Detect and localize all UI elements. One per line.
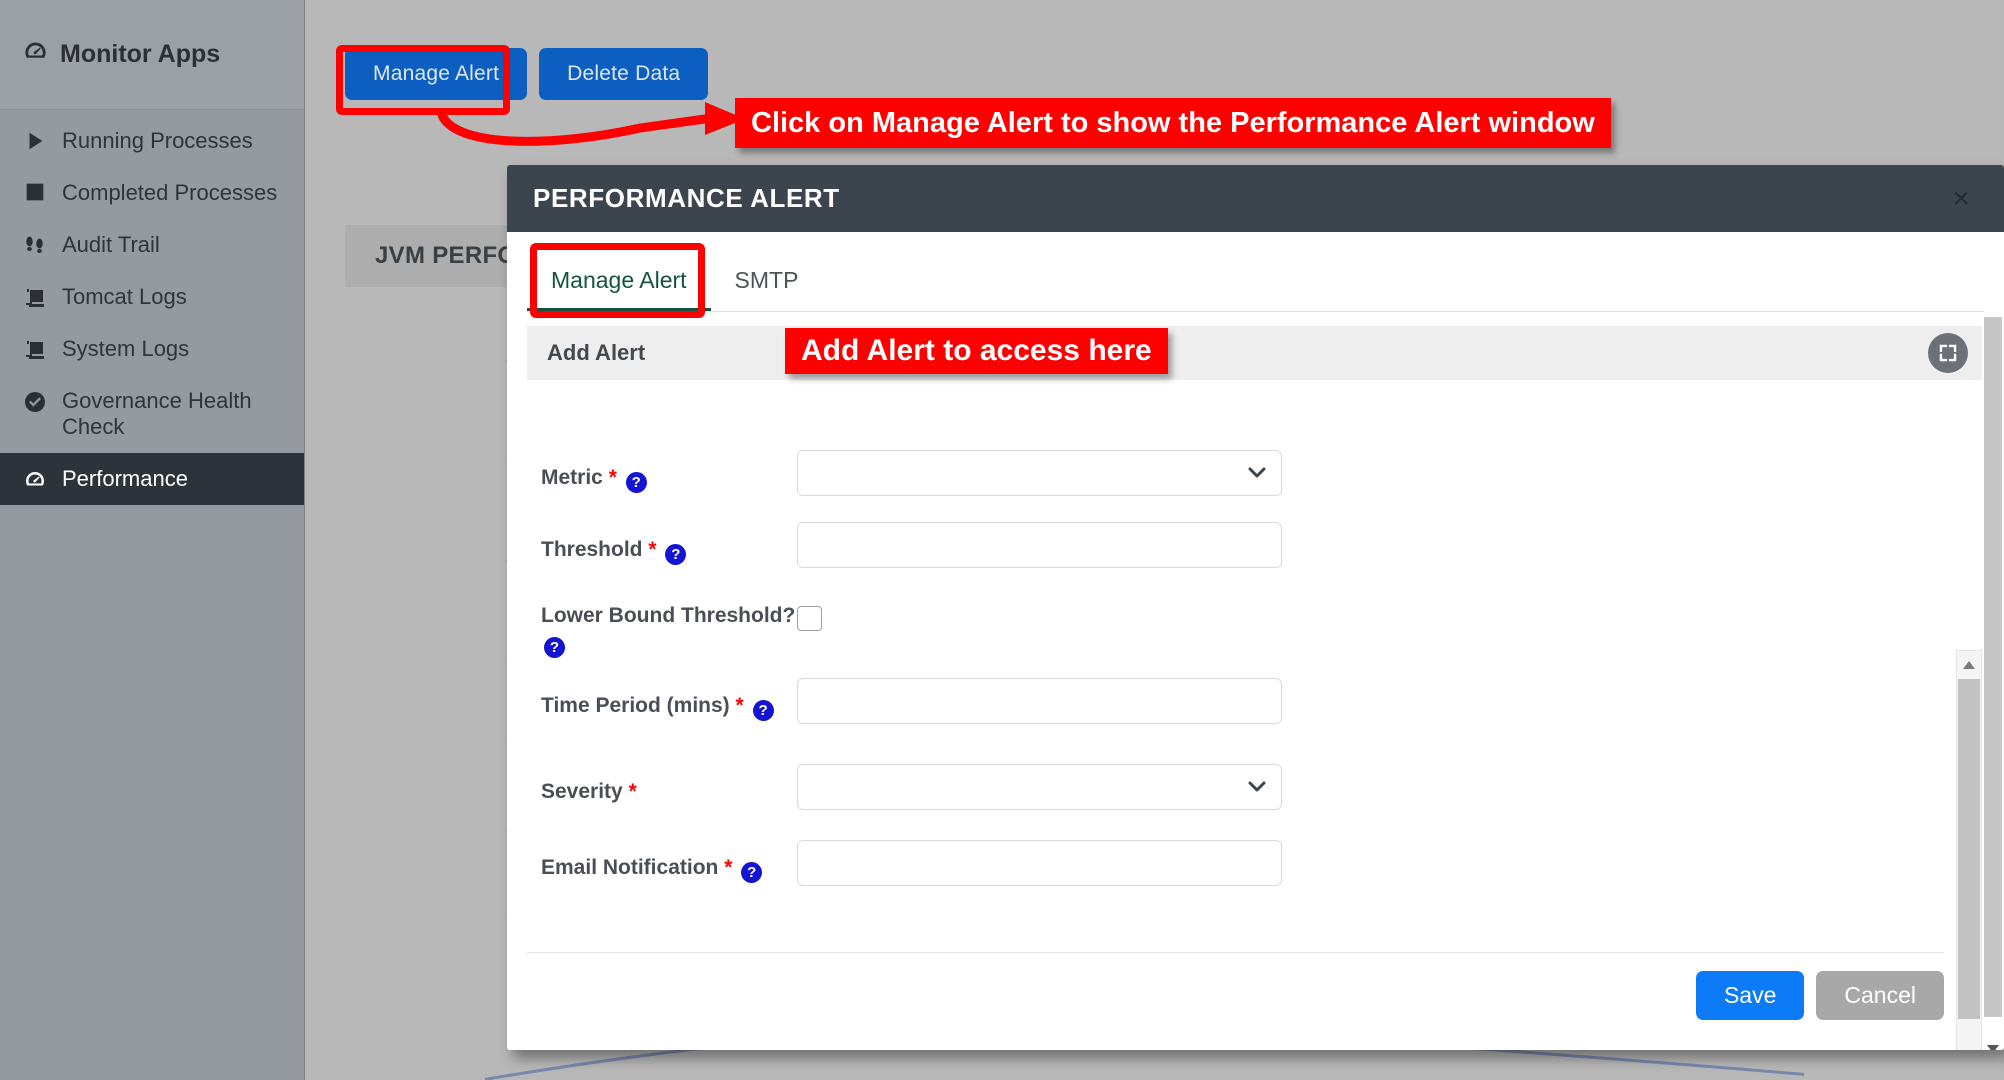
sidebar-nav-list: Running Processes Completed Processes Au… <box>0 110 304 505</box>
manage-alert-button[interactable]: Manage Alert <box>345 48 527 100</box>
sidebar-item-label: Tomcat Logs <box>62 284 187 310</box>
sidebar-item-governance-health-check[interactable]: Governance Health Check <box>0 375 304 453</box>
scroll-log-icon <box>22 286 48 310</box>
required-asterisk: * <box>724 856 732 879</box>
tab-smtp[interactable]: SMTP <box>711 251 823 311</box>
email-notification-label: Email Notification * ? <box>527 840 797 883</box>
field-label-text: Lower Bound Threshold? <box>541 604 795 627</box>
save-button[interactable]: Save <box>1696 971 1804 1020</box>
lower-bound-threshold-control-wrap <box>797 594 1282 636</box>
threshold-label: Threshold * ? <box>527 522 797 565</box>
modal-scrollbar-thumb[interactable] <box>1984 317 2002 1017</box>
lower-bound-threshold-checkbox[interactable] <box>797 606 822 631</box>
form-row-time-period: Time Period (mins) * ? <box>527 678 1984 724</box>
form-row-lower-bound-threshold: Lower Bound Threshold? ? <box>527 594 1984 658</box>
modal-scroll-down-arrow-icon[interactable] <box>1982 1044 2004 1050</box>
cancel-button[interactable]: Cancel <box>1816 971 1944 1020</box>
required-asterisk: * <box>609 466 617 489</box>
annotation-text: Click on Manage Alert to show the Perfor… <box>751 107 1595 140</box>
metric-control-wrap <box>797 450 1282 496</box>
sidebar-item-completed-processes[interactable]: Completed Processes <box>0 167 304 219</box>
field-label-text: Email Notification <box>541 856 718 879</box>
modal-title: PERFORMANCE ALERT <box>533 183 840 214</box>
metric-select[interactable] <box>797 450 1282 496</box>
sidebar-item-performance[interactable]: Performance <box>0 453 304 505</box>
time-period-label: Time Period (mins) * ? <box>527 678 817 721</box>
field-label-text: Severity <box>541 780 623 803</box>
scroll-log-icon <box>22 338 48 362</box>
stop-square-icon <box>22 182 48 202</box>
sidebar-brand[interactable]: Monitor Apps <box>0 0 304 110</box>
field-label-text: Metric <box>541 466 603 489</box>
annotation-text: Add Alert to access here <box>801 334 1152 368</box>
modal-tabs: Manage Alert SMTP <box>527 250 1984 312</box>
modal-scrollbar[interactable] <box>1982 317 2004 1050</box>
metric-label: Metric * ? <box>527 450 797 493</box>
required-asterisk: * <box>629 780 637 803</box>
sidebar-item-label: System Logs <box>62 336 189 362</box>
form-scrollbar-thumb[interactable] <box>1958 679 1980 1019</box>
dashboard-gauge-icon <box>22 38 49 72</box>
sidebar-item-label: Performance <box>62 466 188 492</box>
performance-alert-modal: PERFORMANCE ALERT × Manage Alert SMTP Ad… <box>507 165 2004 1050</box>
form-row-metric: Metric * ? <box>527 450 1984 496</box>
sidebar-item-label: Running Processes <box>62 128 253 154</box>
email-notification-input[interactable] <box>797 840 1282 886</box>
tab-manage-alert[interactable]: Manage Alert <box>527 251 711 311</box>
sidebar-item-running-processes[interactable]: Running Processes <box>0 115 304 167</box>
help-icon[interactable]: ? <box>626 472 647 493</box>
alert-form: Metric * ? Threshold * <box>527 450 1984 968</box>
annotation-banner-click-manage-alert: Click on Manage Alert to show the Perfor… <box>735 98 1611 148</box>
delete-data-button[interactable]: Delete Data <box>539 48 708 100</box>
add-alert-section-bar: Add Alert <box>527 326 1984 380</box>
time-period-control-wrap <box>797 678 1282 724</box>
sidebar-item-label: Audit Trail <box>62 232 160 258</box>
lower-bound-threshold-label: Lower Bound Threshold? ? <box>527 594 797 658</box>
severity-label: Severity * <box>527 764 797 805</box>
severity-control-wrap <box>797 764 1282 810</box>
help-icon[interactable]: ? <box>665 544 686 565</box>
action-toolbar: Manage Alert Delete Data <box>345 48 708 100</box>
sidebar-item-tomcat-logs[interactable]: Tomcat Logs <box>0 271 304 323</box>
modal-footer: Save Cancel <box>527 952 1944 1020</box>
help-icon[interactable]: ? <box>544 637 565 658</box>
required-asterisk: * <box>736 694 744 717</box>
sidebar-item-label: Completed Processes <box>62 180 277 206</box>
sidebar-item-audit-trail[interactable]: Audit Trail <box>0 219 304 271</box>
field-label-text: Threshold <box>541 538 643 561</box>
form-row-severity: Severity * <box>527 764 1984 810</box>
annotation-banner-add-alert: Add Alert to access here <box>785 328 1168 374</box>
sidebar-item-system-logs[interactable]: System Logs <box>0 323 304 375</box>
sidebar: Monitor Apps Running Processes Completed… <box>0 0 305 1080</box>
threshold-control-wrap <box>797 522 1282 568</box>
scroll-up-arrow-icon[interactable] <box>1957 651 1981 679</box>
close-icon[interactable]: × <box>1942 180 1980 218</box>
footprints-icon <box>22 234 48 258</box>
sidebar-item-label: Governance Health Check <box>62 388 290 440</box>
check-circle-icon <box>22 390 48 414</box>
form-scrollbar[interactable] <box>1956 650 1982 1050</box>
required-asterisk: * <box>648 538 656 561</box>
play-triangle-icon <box>22 130 48 152</box>
sidebar-brand-label: Monitor Apps <box>60 40 220 69</box>
threshold-input[interactable] <box>797 522 1282 568</box>
severity-select[interactable] <box>797 764 1282 810</box>
modal-header: PERFORMANCE ALERT × <box>507 165 2004 232</box>
time-period-input[interactable] <box>797 678 1282 724</box>
field-label-text: Time Period (mins) <box>541 694 730 717</box>
fullscreen-expand-icon[interactable] <box>1928 333 1968 373</box>
help-icon[interactable]: ? <box>753 700 774 721</box>
form-row-email-notification: Email Notification * ? <box>527 840 1984 886</box>
help-icon[interactable]: ? <box>741 862 762 883</box>
add-alert-label: Add Alert <box>547 340 645 366</box>
email-notification-control-wrap <box>797 840 1282 886</box>
dashboard-gauge-icon <box>22 468 48 492</box>
form-row-threshold: Threshold * ? <box>527 522 1984 568</box>
modal-body: Manage Alert SMTP Add Alert Metric * <box>507 250 2004 1050</box>
